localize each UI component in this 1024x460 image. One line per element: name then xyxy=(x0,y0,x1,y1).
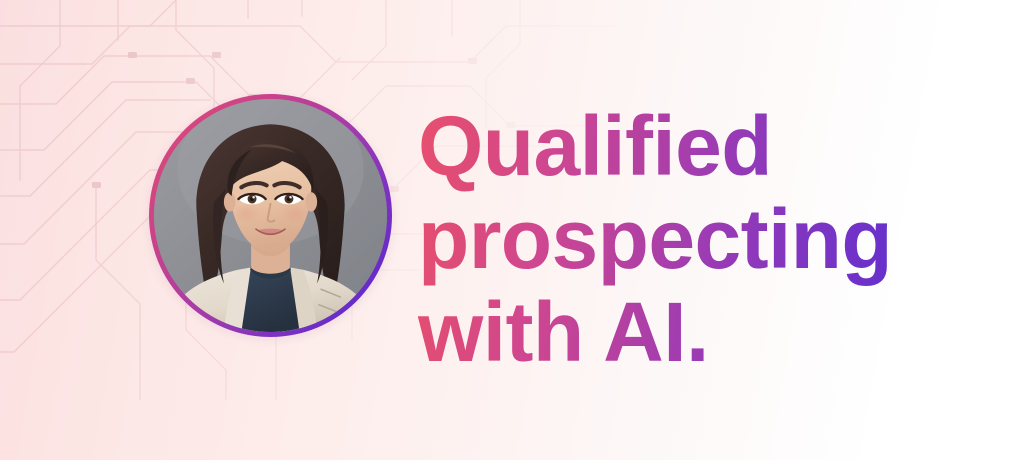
avatar xyxy=(149,94,392,337)
avatar-photo xyxy=(154,99,387,332)
hero-banner: Qualified prospecting with AI. xyxy=(0,0,1024,460)
page-title: Qualified prospecting with AI. xyxy=(418,100,958,378)
